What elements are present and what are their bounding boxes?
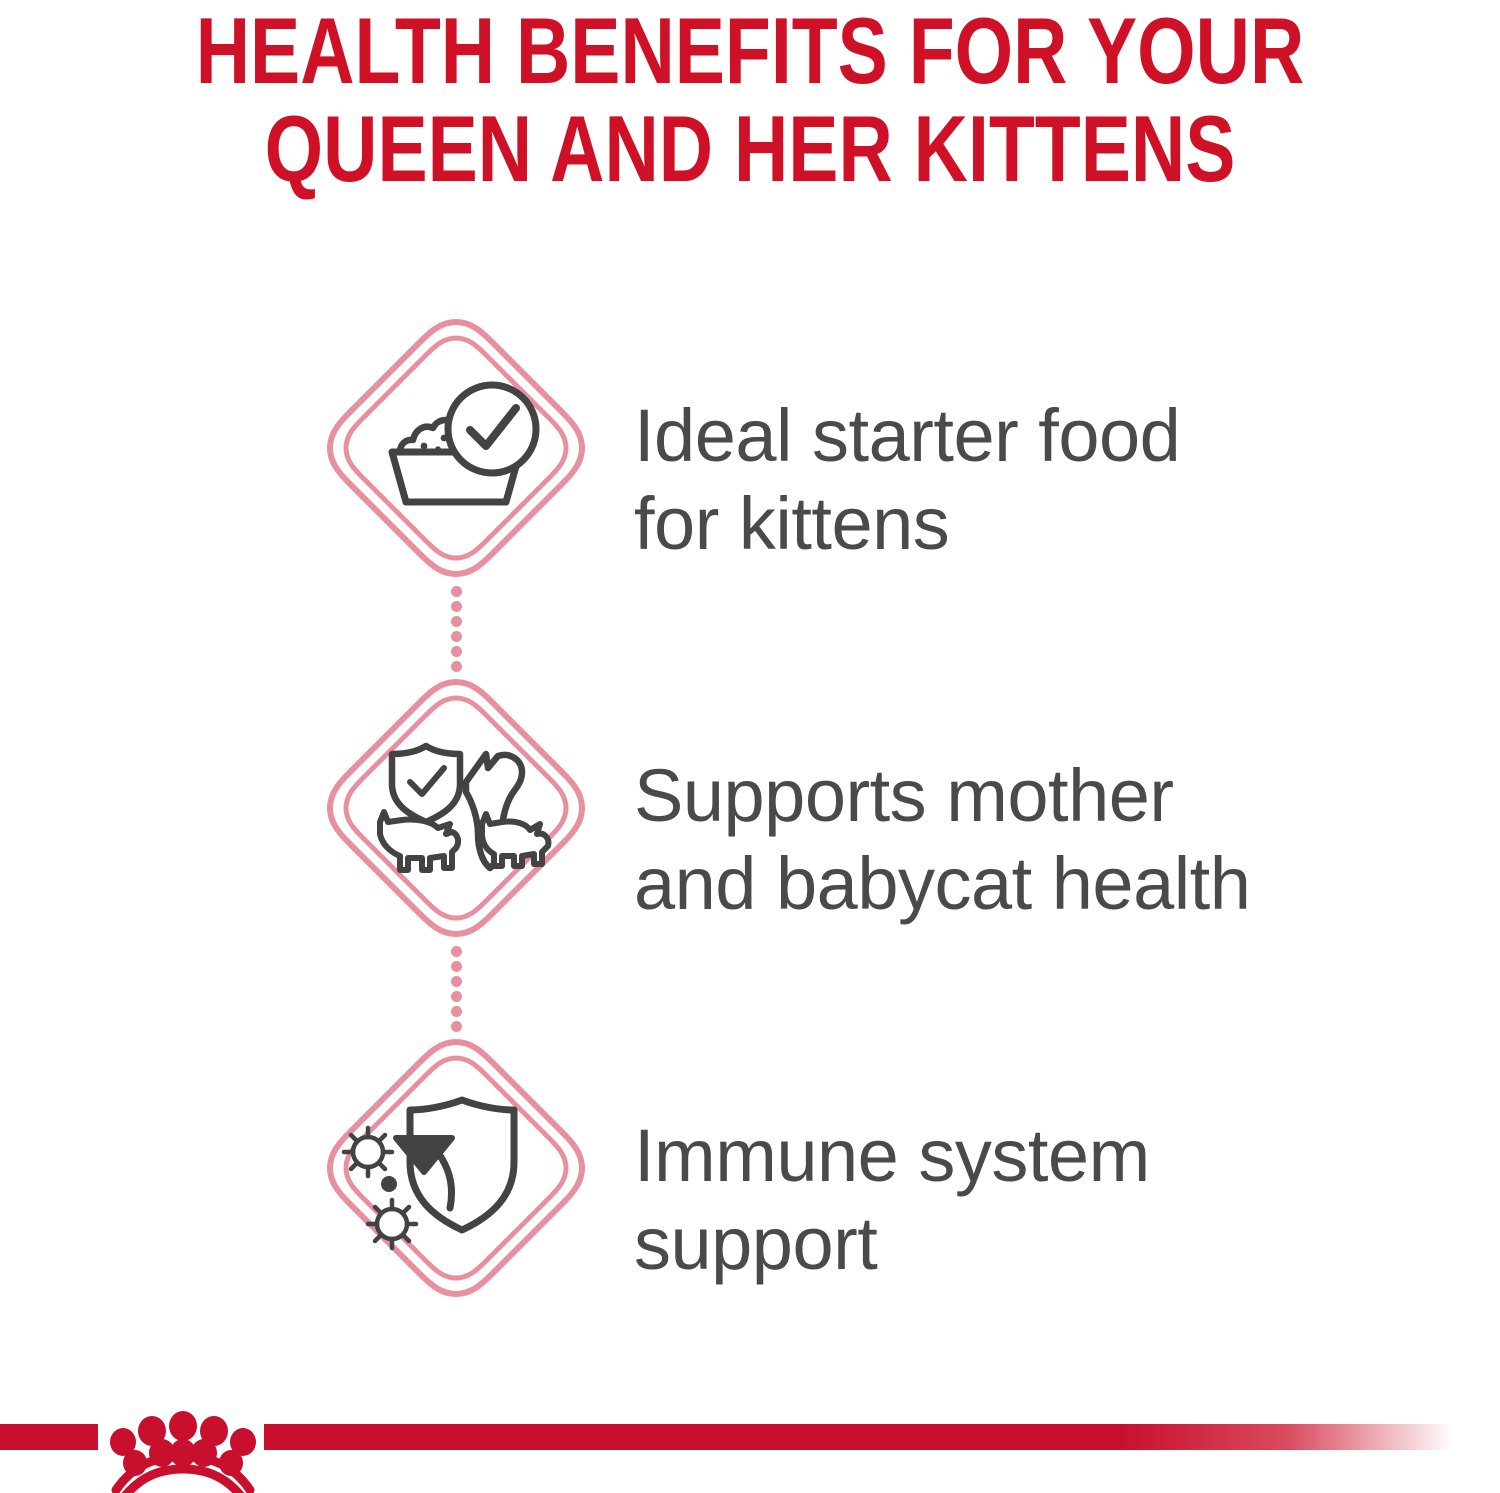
food-bowl-check-icon <box>320 312 592 584</box>
benefit-label-1: Ideal starter food for kittens <box>634 392 1434 568</box>
benefit-icon-badge-3 <box>320 1032 592 1304</box>
benefit-icon-badge-2 <box>320 672 592 944</box>
benefit-row-3: Immune system support <box>0 1020 1500 1380</box>
connector-dot <box>451 991 462 1002</box>
page-title: HEALTH BENEFITS FOR YOUR QUEEN AND HER K… <box>0 2 1500 198</box>
benefit-row-2: Supports mother and babycat health <box>0 660 1500 1020</box>
benefit-row-1: Ideal starter food for kittens <box>0 300 1500 660</box>
mother-cat-kittens-shield-icon <box>320 672 592 944</box>
crown-icon <box>100 1398 266 1493</box>
benefits-list: Ideal starter food for kittens <box>0 300 1500 1380</box>
benefit-icon-badge-1 <box>320 312 592 584</box>
royal-canin-crown-logo <box>100 1398 266 1493</box>
connector-dot <box>451 976 462 987</box>
connector-dot <box>451 586 462 597</box>
title-line-1: HEALTH BENEFITS FOR YOUR <box>150 2 1350 100</box>
benefit-label-2: Supports mother and babycat health <box>634 752 1434 928</box>
footer-bar-right <box>264 1424 1454 1450</box>
footer <box>0 1380 1500 1493</box>
connector-dot <box>451 946 462 957</box>
connector-dot <box>451 616 462 627</box>
connector-dot <box>451 631 462 642</box>
shield-germs-immune-icon <box>320 1032 592 1304</box>
connector-dot <box>451 646 462 657</box>
connector-dot <box>451 961 462 972</box>
connector-dot <box>451 1006 462 1017</box>
benefit-label-3: Immune system support <box>634 1112 1434 1288</box>
footer-bar-left <box>0 1424 98 1450</box>
title-line-2: QUEEN AND HER KITTENS <box>150 100 1350 198</box>
connector-dot <box>451 601 462 612</box>
